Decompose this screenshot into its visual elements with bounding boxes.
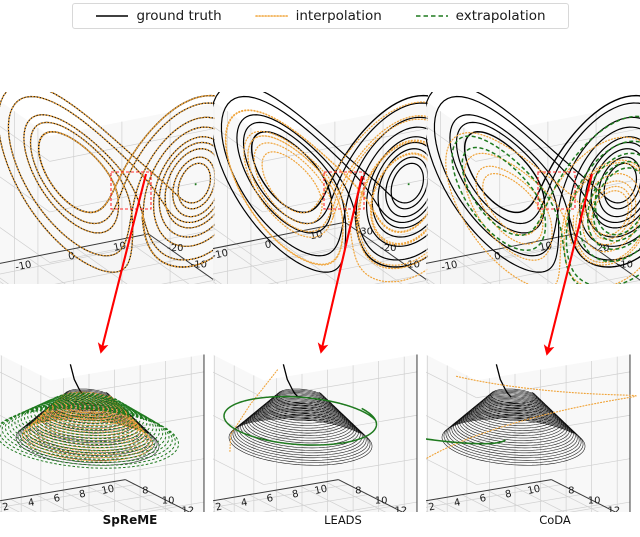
- ytick-label: 10: [238, 293, 251, 304]
- plot-grid: -20-10010-20-1001010203040-20-10010-30-2…: [0, 58, 640, 537]
- panel-label-spreme: SpReME: [45, 513, 215, 527]
- panel-label-leads: LEADS: [258, 513, 428, 527]
- ytick-label: 8: [142, 486, 148, 497]
- ztick-label: 40: [252, 118, 265, 130]
- panel-label-coda: CoDA: [470, 513, 640, 527]
- ztick-label: 40: [465, 118, 478, 130]
- figure-canvas: -20-10010-20-1001010203040-20-10010-30-2…: [0, 0, 640, 537]
- ytick-label: 10: [162, 496, 175, 507]
- plot-bottom-spreme: 0246810810121420253035: [0, 341, 227, 537]
- ytick-label: 10: [451, 293, 464, 304]
- plot-bottom-leads: 0246810810121420253035: [185, 341, 440, 537]
- ytick-label: 10: [375, 496, 388, 507]
- ytick-label: 8: [568, 486, 574, 497]
- ytick-label: 10: [588, 496, 601, 507]
- ytick-label: 8: [355, 486, 361, 497]
